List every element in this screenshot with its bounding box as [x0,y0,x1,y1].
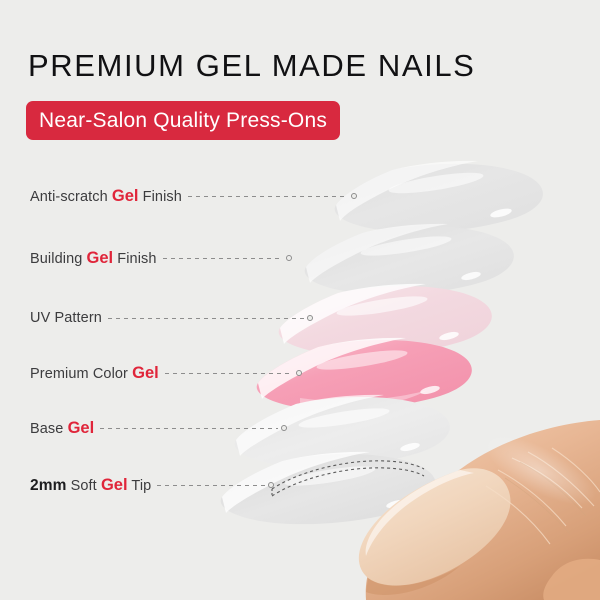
leader-endpoint-uv-pattern [307,315,313,321]
anti-scratch-gel-finish-layer [335,161,543,233]
leader-line-premium-color-gel [165,373,293,374]
leader-endpoint-anti-scratch-gel-finish [351,193,357,199]
callout-premium-color-gel: Premium Color Gel [30,363,293,383]
infographic-canvas: PREMIUM GEL MADE NAILS Near-Salon Qualit… [0,0,600,600]
page-title: PREMIUM GEL MADE NAILS [28,48,475,84]
leader-line-2mm-soft-gel-tip [157,485,265,486]
callout-label-2mm-soft-gel-tip: 2mm Soft Gel Tip [30,476,151,495]
leader-endpoint-building-gel-finish [286,255,292,261]
leader-endpoint-2mm-soft-gel-tip [268,482,274,488]
tip-thickness-dashed-outline [272,461,424,489]
exploded-nail-layer-stack [0,0,600,600]
callout-label-premium-color-gel: Premium Color Gel [30,364,159,383]
leader-line-anti-scratch-gel-finish [188,196,348,197]
subtitle-badge: Near-Salon Quality Press-Ons [26,101,340,140]
callout-label-base-gel: Base Gel [30,419,94,438]
leader-endpoint-base-gel [281,425,287,431]
building-gel-finish-layer [305,224,514,295]
fingertip-photo [359,420,600,600]
callout-label-uv-pattern: UV Pattern [30,310,102,326]
callout-label-anti-scratch-gel-finish: Anti-scratch Gel Finish [30,187,182,206]
callout-label-building-gel-finish: Building Gel Finish [30,249,157,268]
leader-line-building-gel-finish [163,258,283,259]
leader-line-uv-pattern [108,318,304,319]
callout-building-gel-finish: Building Gel Finish [30,248,283,268]
callout-uv-pattern: UV Pattern [30,308,304,328]
callout-2mm-soft-gel-tip: 2mm Soft Gel Tip [30,475,265,495]
callout-base-gel: Base Gel [30,418,278,438]
callout-anti-scratch-gel-finish: Anti-scratch Gel Finish [30,186,348,206]
leader-endpoint-premium-color-gel [296,370,302,376]
leader-line-base-gel [100,428,278,429]
